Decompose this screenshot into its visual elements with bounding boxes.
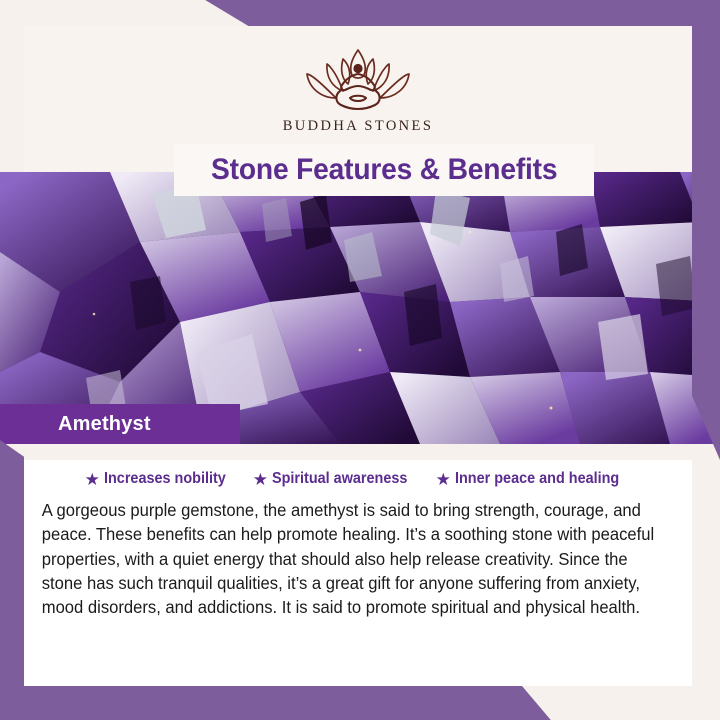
benefit-item: ★ Increases nobility <box>85 470 235 488</box>
stone-info-card: BUDDHA STONES Stone Features & Benefits <box>0 0 720 720</box>
content-panel: ★ Increases nobility ★ Spiritual awarene… <box>24 460 692 686</box>
stone-description: A gorgeous purple gemstone, the amethyst… <box>36 496 676 620</box>
left-decorative-band <box>0 440 24 720</box>
benefit-item: ★ Spiritual awareness <box>253 470 418 488</box>
header-inner-panel: BUDDHA STONES Stone Features & Benefits <box>24 26 692 172</box>
benefit-label: Spiritual awareness <box>272 470 407 488</box>
benefit-label: Inner peace and healing <box>455 470 619 488</box>
page-title: Stone Features & Benefits <box>211 153 557 187</box>
star-icon: ★ <box>436 471 451 488</box>
stone-name-banner: Amethyst <box>0 404 240 444</box>
star-icon: ★ <box>253 471 268 488</box>
benefit-label: Increases nobility <box>104 470 226 488</box>
benefits-list: ★ Increases nobility ★ Spiritual awarene… <box>36 466 680 496</box>
page-title-plate: Stone Features & Benefits <box>174 144 594 196</box>
brand-wordmark: BUDDHA STONES <box>283 118 434 135</box>
stone-name: Amethyst <box>58 413 151 436</box>
brand-logo: BUDDHA STONES <box>24 46 692 135</box>
bottom-decorative-band <box>0 686 720 720</box>
benefit-item: ★ Inner peace and healing <box>436 470 632 488</box>
star-icon: ★ <box>85 471 100 488</box>
content-spacer <box>24 444 692 460</box>
lotus-meditation-icon <box>283 46 433 112</box>
right-decorative-band <box>692 0 720 460</box>
